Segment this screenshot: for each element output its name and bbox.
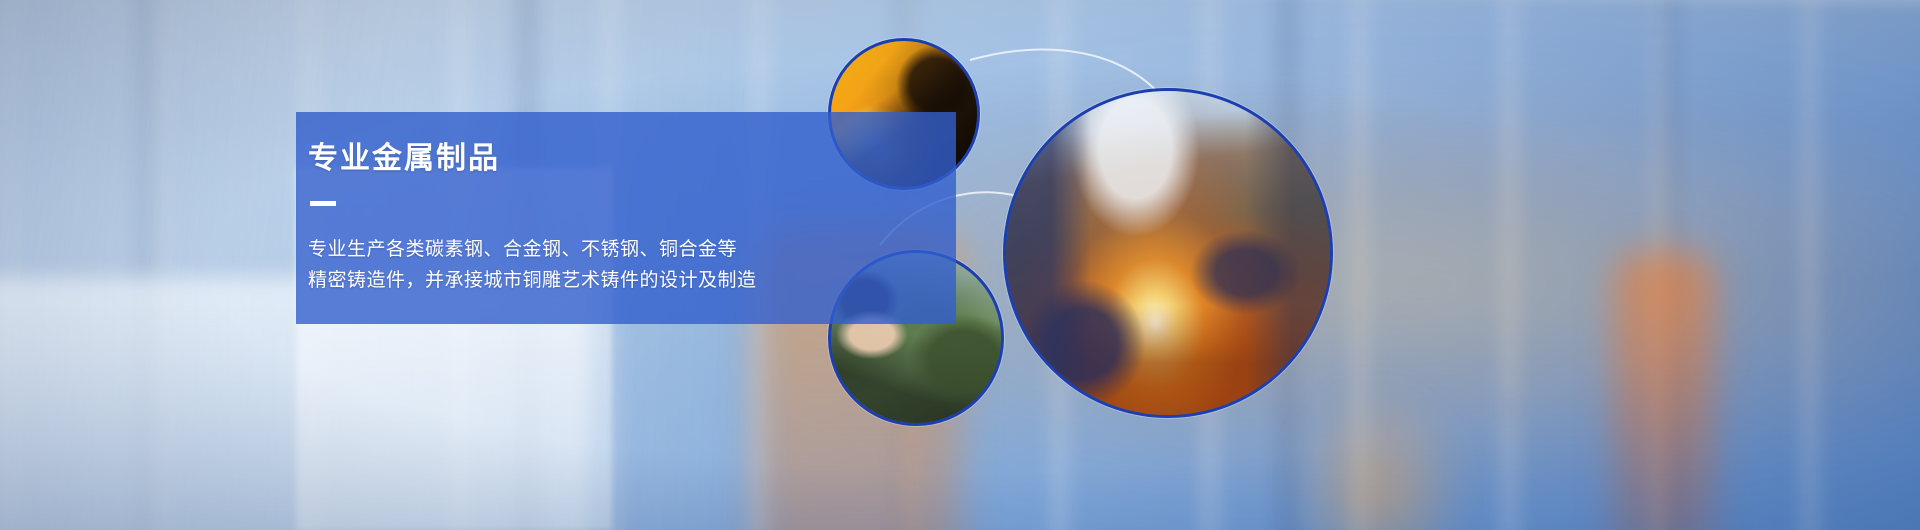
title-divider [310,201,336,206]
banner-description: 专业生产各类碳素钢、合金钢、不锈钢、铜合金等 精密铸造件，并承接城市铜雕艺术铸件… [308,234,1000,296]
hero-banner: 专业金属制品 专业生产各类碳素钢、合金钢、不锈钢、铜合金等 精密铸造件，并承接城… [0,0,1920,530]
banner-title: 专业金属制品 [308,142,1000,175]
text-panel-content: 专业金属制品 专业生产各类碳素钢、合金钢、不锈钢、铜合金等 精密铸造件，并承接城… [300,112,1000,324]
circle-photo-foundry-pour [1003,88,1333,418]
